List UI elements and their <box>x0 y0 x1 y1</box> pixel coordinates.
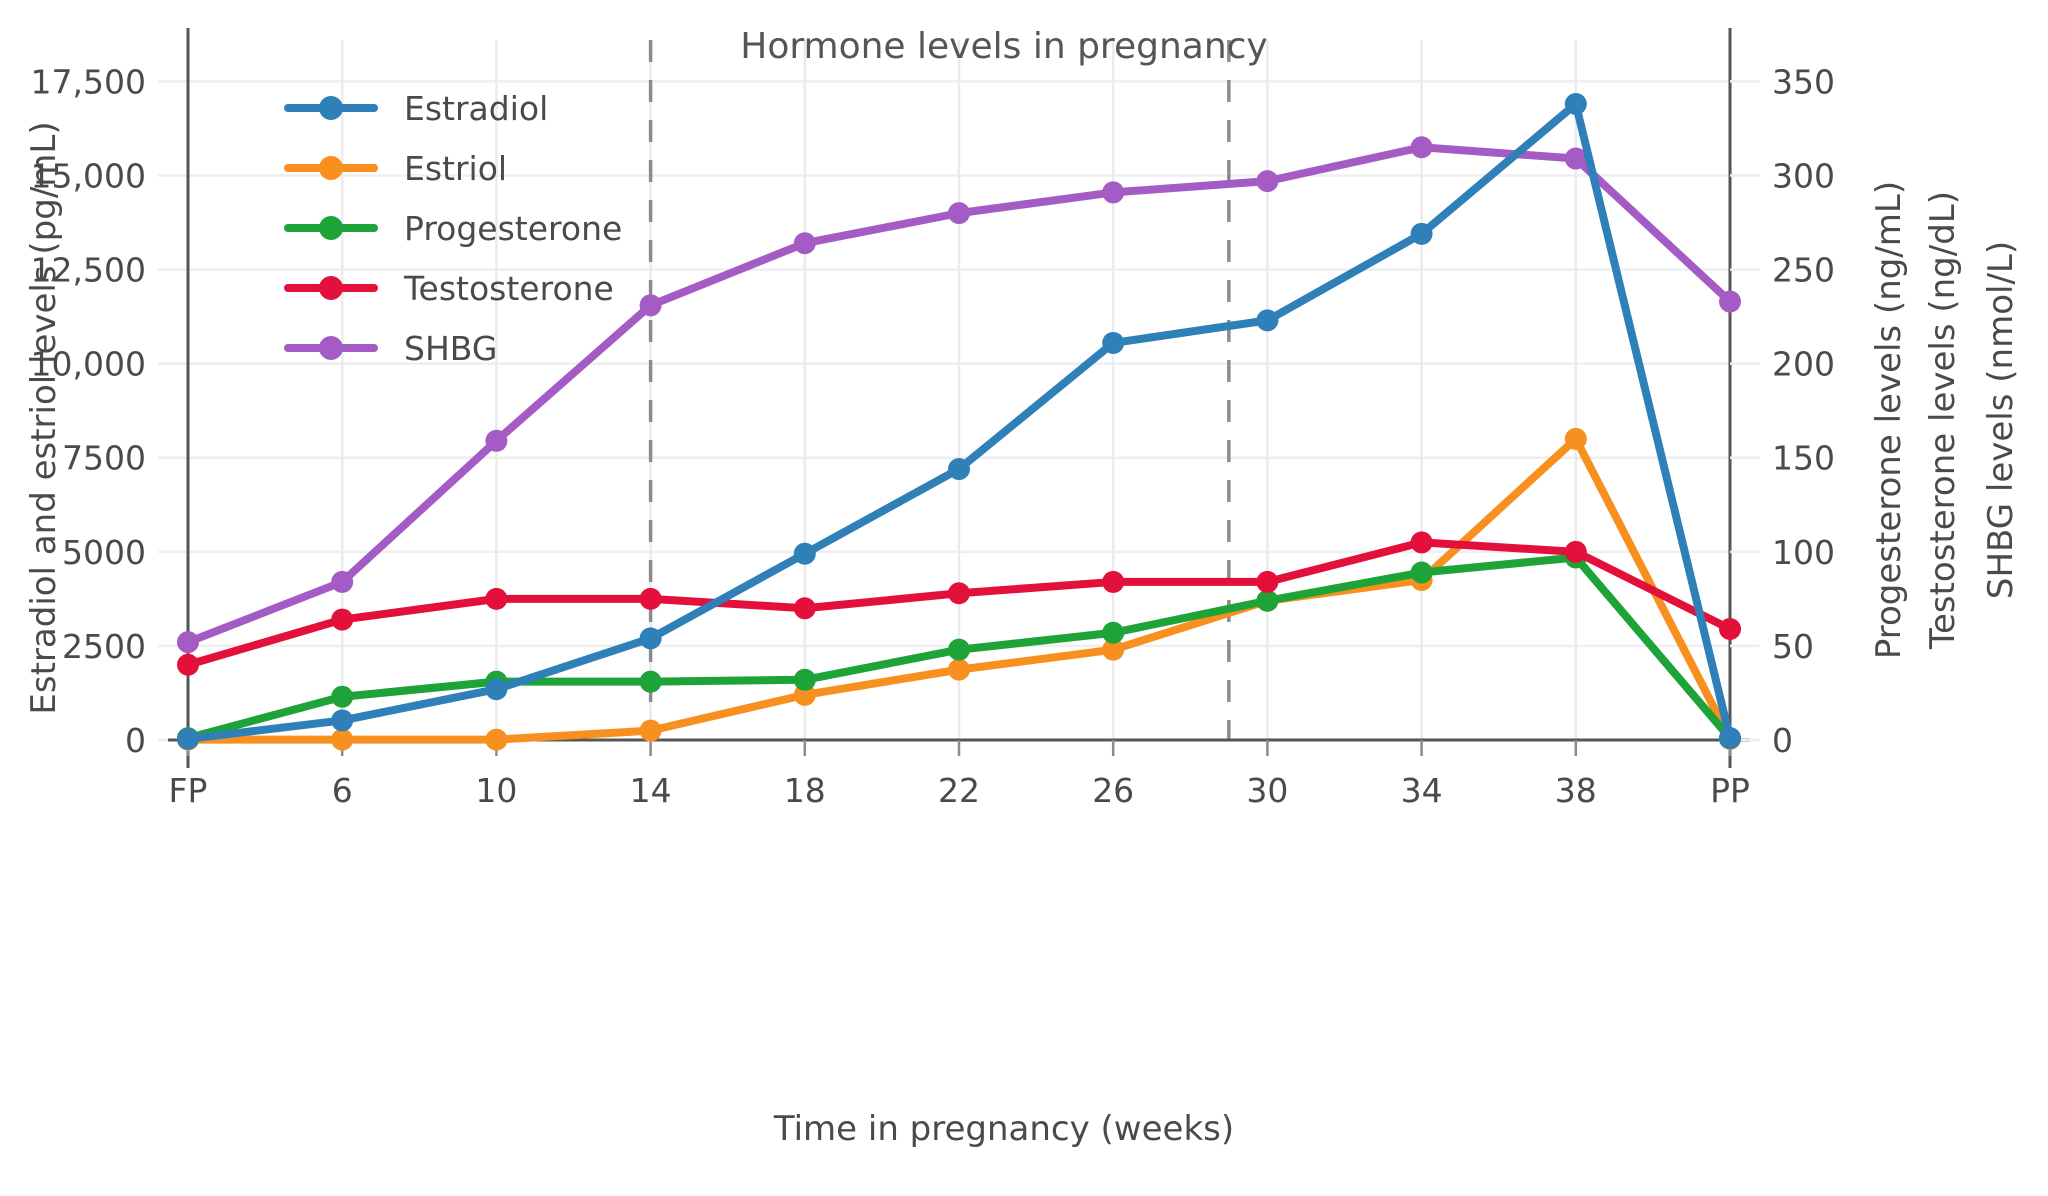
x-tick-label: 34 <box>1401 771 1443 810</box>
x-tick-label: 18 <box>784 771 826 810</box>
y-left-tick-label: 2500 <box>62 627 146 666</box>
data-point-testosterone <box>640 588 662 610</box>
data-point-testosterone <box>1411 531 1433 553</box>
data-point-testosterone <box>485 588 507 610</box>
legend-label-estriol: Estriol <box>404 149 507 188</box>
chart-title: Hormone levels in pregnancy <box>740 26 1267 67</box>
data-point-progesterone <box>640 671 662 693</box>
x-tick-label: FP <box>169 771 208 810</box>
y-axis-right-title-progesterone: Progesterone levels (ng/mL) <box>1869 181 1909 659</box>
data-point-estriol <box>1565 428 1587 450</box>
legend-label-estradiol: Estradiol <box>404 89 548 128</box>
gridlines <box>158 40 1760 740</box>
data-point-progesterone <box>794 669 816 691</box>
data-point-estriol <box>485 729 507 751</box>
data-point-estradiol <box>640 627 662 649</box>
data-point-estradiol <box>1411 223 1433 245</box>
x-tick-label: 38 <box>1555 771 1597 810</box>
data-point-estradiol <box>177 728 199 750</box>
y-left-tick-label: 17,500 <box>31 62 146 101</box>
y-right-tick-label: 50 <box>1772 627 1814 666</box>
data-point-shbg <box>640 294 662 316</box>
data-point-progesterone <box>1256 590 1278 612</box>
x-tick-label: 22 <box>938 771 980 810</box>
data-point-testosterone <box>1256 571 1278 593</box>
y-axis-right-title-shbg: SHBG levels (nmol/L) <box>1981 241 2021 599</box>
data-point-testosterone <box>1565 541 1587 563</box>
y-left-tick-label: 5000 <box>62 533 146 572</box>
data-point-estradiol <box>485 678 507 700</box>
y-axis-right-tick-labels: 050100150200250300350 <box>1730 62 1835 760</box>
y-right-tick-label: 350 <box>1772 62 1835 101</box>
legend-label-progesterone: Progesterone <box>404 209 622 248</box>
data-point-shbg <box>485 430 507 452</box>
data-point-estriol <box>331 729 353 751</box>
chart-figure: 025005000750010,00012,50015,00017,500 05… <box>0 0 2048 1196</box>
data-point-shbg <box>1411 136 1433 158</box>
data-point-progesterone <box>1411 562 1433 584</box>
y-right-tick-label: 150 <box>1772 439 1835 478</box>
x-tick-label: 30 <box>1246 771 1288 810</box>
data-point-testosterone <box>177 654 199 676</box>
data-point-estradiol <box>1102 332 1124 354</box>
x-tick-label: 6 <box>332 771 353 810</box>
data-point-estradiol <box>1256 309 1278 331</box>
data-point-estradiol <box>794 543 816 565</box>
legend-label-testosterone: Testosterone <box>403 269 614 308</box>
y-right-tick-label: 200 <box>1772 345 1835 384</box>
data-point-shbg <box>177 631 199 653</box>
x-tick-label: 14 <box>630 771 672 810</box>
data-point-shbg <box>1102 181 1124 203</box>
data-point-estradiol <box>1719 727 1741 749</box>
vertical-dashed-lines <box>651 40 1229 740</box>
data-point-shbg <box>1719 291 1741 313</box>
y-right-tick-label: 250 <box>1772 251 1835 290</box>
x-tick-label: 26 <box>1092 771 1134 810</box>
y-left-tick-label: 0 <box>125 721 146 760</box>
data-point-shbg <box>948 202 970 224</box>
data-point-testosterone <box>331 609 353 631</box>
data-point-testosterone <box>794 597 816 619</box>
data-point-progesterone <box>948 639 970 661</box>
data-point-progesterone <box>1102 622 1124 644</box>
y-left-tick-label: 7500 <box>62 439 146 478</box>
x-tick-label: PP <box>1710 771 1750 810</box>
data-point-estradiol <box>331 709 353 731</box>
chart-legend: EstradiolEstriolProgesteroneTestosterone… <box>288 89 622 368</box>
data-point-testosterone <box>1719 618 1741 640</box>
x-tick-label: 10 <box>475 771 517 810</box>
y-axis-left-title: Estradiol and estriol levels (pg/mL) <box>24 121 64 714</box>
y-axis-right-title-testosterone: Testosterone levels (ng/dL) <box>1923 191 1963 650</box>
data-point-estradiol <box>1565 93 1587 115</box>
x-axis-title: Time in pregnancy (weeks) <box>773 1109 1234 1149</box>
y-right-tick-label: 100 <box>1772 533 1835 572</box>
legend-label-shbg: SHBG <box>404 329 497 368</box>
data-point-shbg <box>331 571 353 593</box>
data-point-testosterone <box>1102 571 1124 593</box>
data-point-progesterone <box>331 686 353 708</box>
data-point-shbg <box>1256 170 1278 192</box>
y-right-tick-label: 300 <box>1772 156 1835 195</box>
x-axis-tick-labels: FP61014182226303438PP <box>169 740 1750 810</box>
data-point-testosterone <box>948 582 970 604</box>
hormone-levels-line-chart: 025005000750010,00012,50015,00017,500 05… <box>0 0 2048 1196</box>
data-point-estriol <box>948 659 970 681</box>
data-point-shbg <box>794 232 816 254</box>
y-right-tick-label: 0 <box>1772 721 1793 760</box>
data-point-estradiol <box>948 458 970 480</box>
data-point-estriol <box>640 720 662 742</box>
